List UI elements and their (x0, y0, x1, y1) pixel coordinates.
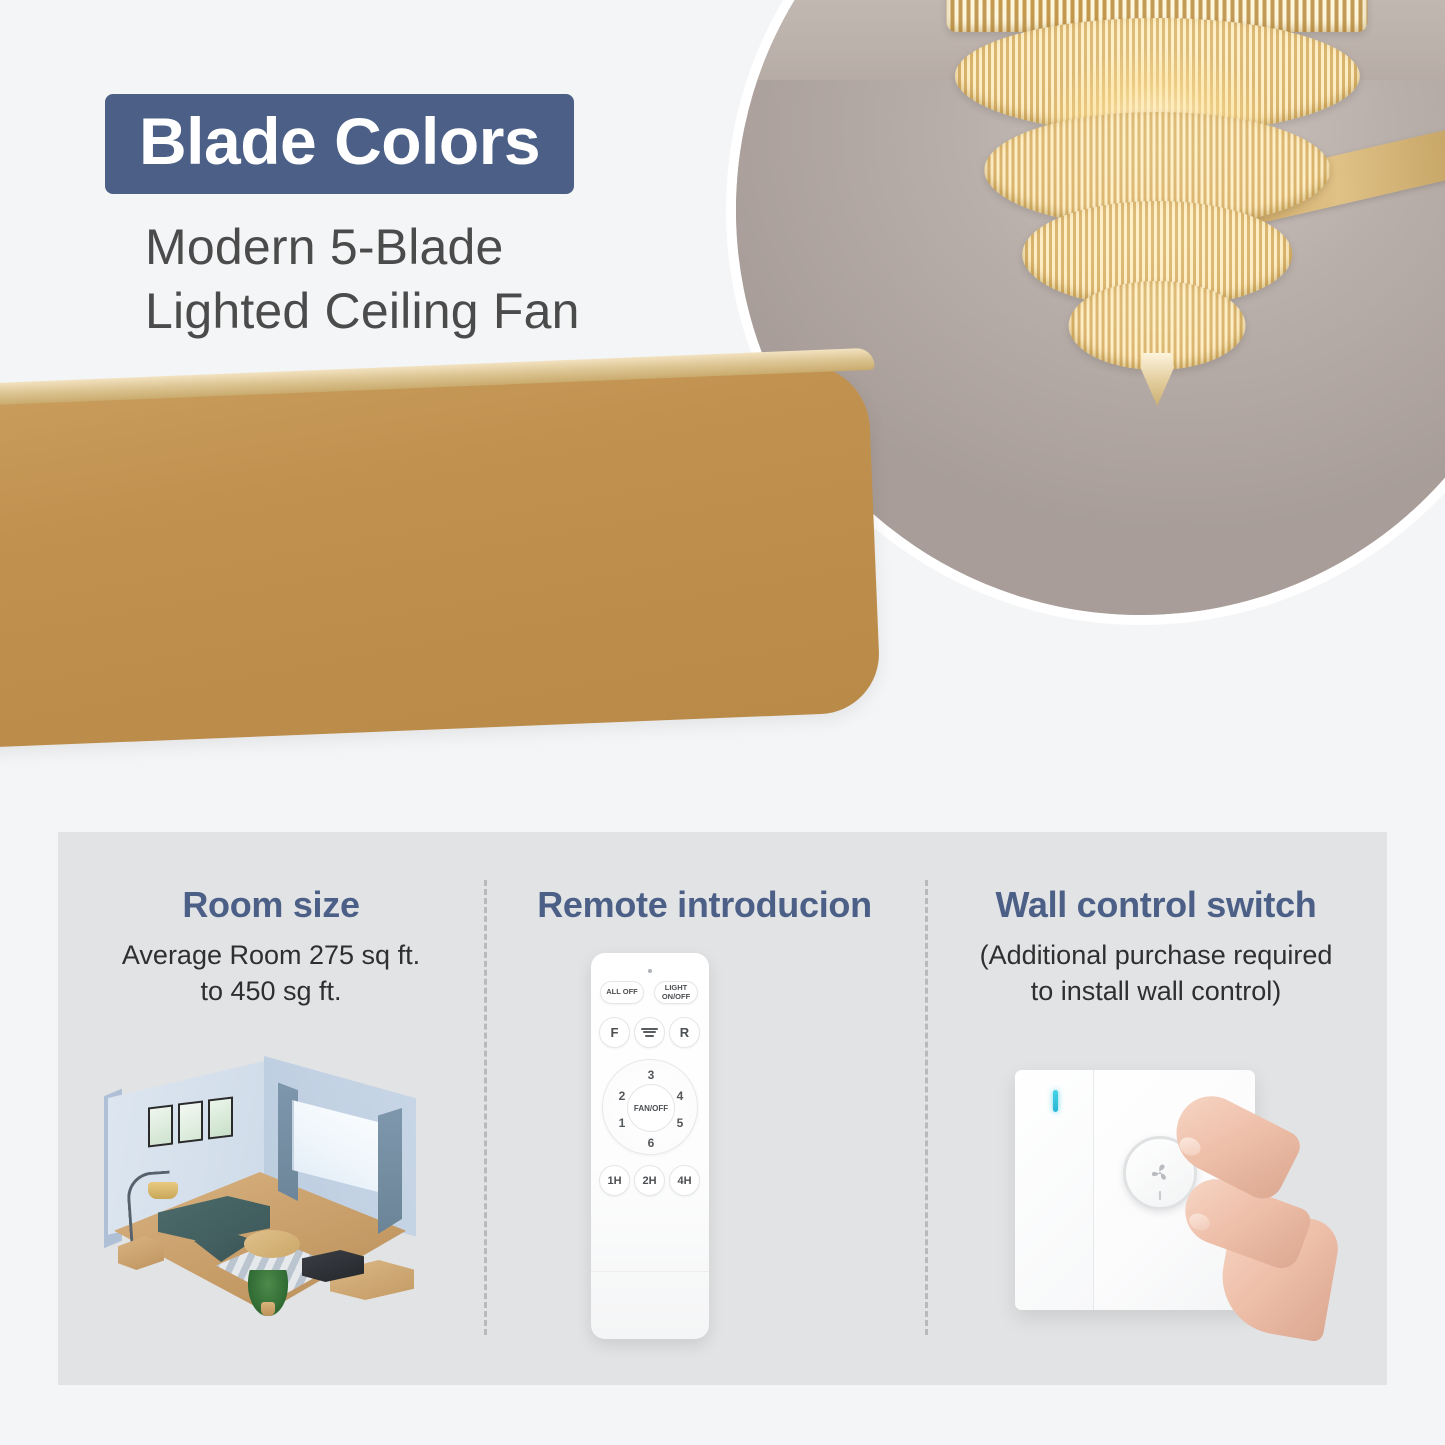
wall-control-switch-description: (Additional purchase required to install… (925, 937, 1387, 1010)
remote-button-forward-label: F (611, 1025, 619, 1040)
feature-panel: Room size Average Room 275 sq ft. to 450… (58, 832, 1387, 1385)
remote-speed-dial[interactable]: 3 4 5 6 1 2 FAN/OFF (602, 1059, 698, 1155)
coffee-table (244, 1230, 300, 1258)
column-room-size: Room size Average Room 275 sq ft. to 450… (58, 832, 484, 1385)
product-subtitle: Modern 5-Blade Lighted Ceiling Fan (145, 215, 665, 343)
remote-speed-1[interactable]: 1 (614, 1115, 630, 1131)
blade-face (0, 362, 881, 748)
remote-button-reverse[interactable]: R (669, 1017, 700, 1048)
room-size-line-2: to 450 sg ft. (72, 973, 470, 1009)
wall-switch-led-indicator (1053, 1090, 1058, 1112)
wall-control-line-2: to install wall control) (939, 973, 1373, 1009)
remote-speed-6[interactable]: 6 (643, 1135, 659, 1151)
remote-led-indicator (648, 969, 652, 973)
curtain-right (378, 1108, 402, 1234)
remote-button-all-off-label: ALL OFF (606, 988, 638, 997)
crystal-light-kit (947, 0, 1368, 388)
remote-button-reverse-label: R (680, 1025, 689, 1040)
product-subtitle-line-2: Lighted Ceiling Fan (145, 279, 665, 343)
remote-button-light-label-2: ON/OFF (662, 993, 690, 1002)
remote-speed-5[interactable]: 5 (672, 1115, 688, 1131)
remote-button-forward[interactable]: F (599, 1017, 630, 1048)
remote-battery-cover-seam (591, 1271, 709, 1272)
remote-button-fan-off[interactable]: FAN/OFF (627, 1084, 675, 1132)
remote-button-timer-4h-label: 4H (677, 1175, 691, 1187)
wall-switch-knob-marker (1159, 1191, 1162, 1200)
column-remote-introduction: Remote introducion ALL OFF LIGHT ON/OFF … (484, 832, 925, 1385)
wall-control-switch-heading: Wall control switch (925, 884, 1387, 926)
room-size-heading: Room size (58, 884, 484, 926)
remote-button-timer-4h[interactable]: 4H (669, 1165, 700, 1196)
remote-button-timer-1h[interactable]: 1H (599, 1165, 630, 1196)
page-title-badge: Blade Colors (105, 94, 574, 194)
wall-art-1 (148, 1104, 173, 1147)
remote-button-timer-2h[interactable]: 2H (634, 1165, 665, 1196)
wall-art-2 (178, 1100, 203, 1143)
room-size-description: Average Room 275 sq ft. to 450 sg ft. (58, 937, 484, 1010)
product-subtitle-line-1: Modern 5-Blade (145, 215, 665, 279)
page-title: Blade Colors (139, 108, 540, 174)
wall-switch-rocker-panel[interactable] (1015, 1070, 1094, 1310)
remote-button-timer-1h-label: 1H (607, 1175, 621, 1187)
gold-fan-blade-closeup (0, 398, 875, 748)
isometric-living-room-illustration (96, 1054, 444, 1324)
hero-section: Blade Colors Modern 5-Blade Lighted Ceil… (0, 0, 1445, 800)
room-size-line-1: Average Room 275 sq ft. (72, 937, 470, 973)
remote-speed-3[interactable]: 3 (643, 1067, 659, 1083)
column-wall-control-switch: Wall control switch (Additional purchase… (925, 832, 1387, 1385)
remote-introduction-heading: Remote introducion (484, 884, 925, 926)
remote-button-all-off[interactable]: ALL OFF (600, 981, 644, 1004)
remote-button-timer-2h-label: 2H (642, 1175, 656, 1187)
remote-button-breeze[interactable] (634, 1017, 665, 1048)
remote-control-photo: ALL OFF LIGHT ON/OFF F R 3 4 (591, 953, 709, 1339)
wall-art-3 (208, 1096, 233, 1139)
remote-speed-4[interactable]: 4 (672, 1088, 688, 1104)
wall-control-line-1: (Additional purchase required (939, 937, 1373, 973)
remote-button-light-on-off[interactable]: LIGHT ON/OFF (654, 981, 698, 1004)
arc-floor-lamp-shade (148, 1182, 178, 1199)
potted-plant (248, 1270, 288, 1316)
wall-switch-photo (1015, 1070, 1285, 1328)
breeze-wave-icon (641, 1026, 658, 1039)
pointing-hand (1165, 1094, 1307, 1322)
